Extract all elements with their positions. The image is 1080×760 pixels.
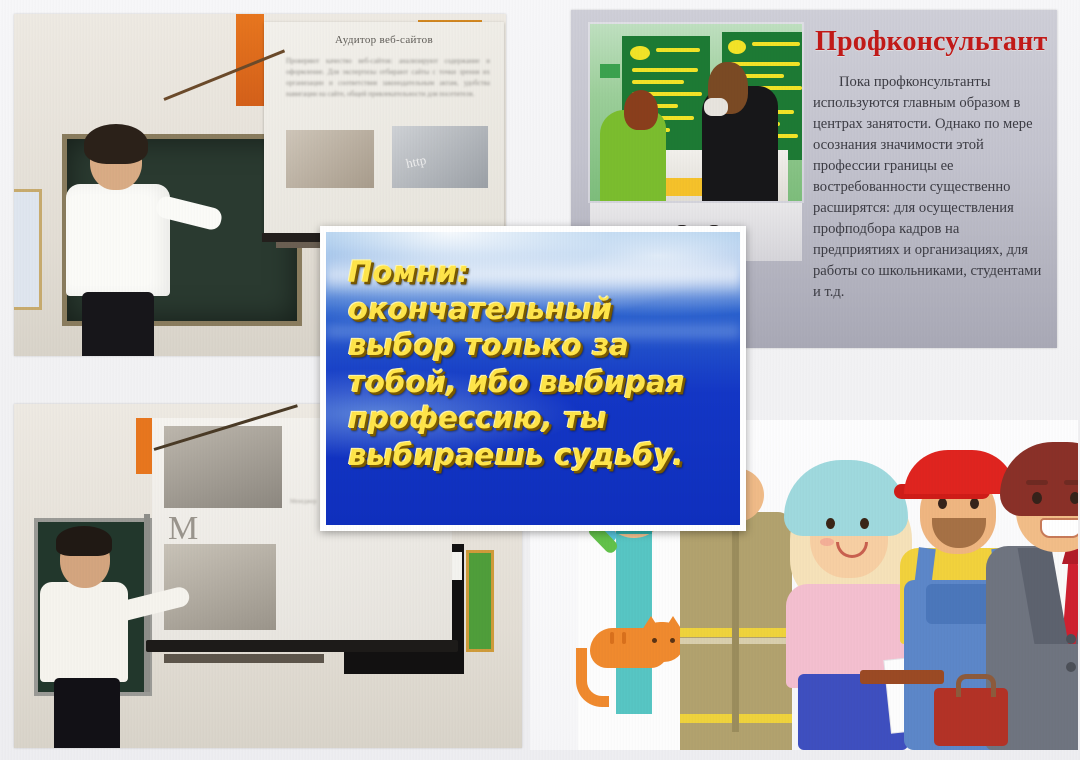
white-polo-shirt [40, 582, 128, 682]
eye-left [826, 518, 835, 529]
briefcase-icon [934, 688, 1008, 746]
quote-line-2: окончательный [348, 291, 726, 328]
quote-line-6: выбираешь судьбу. [348, 437, 726, 474]
slide-canvas: Аудитор веб-сайтов Проверяют качество ве… [0, 0, 1080, 760]
cat-icon [574, 610, 694, 696]
quote-line-3: выбор только за [348, 327, 726, 364]
slide-image-http: http [392, 126, 488, 188]
jacket-button-lower [1066, 662, 1076, 672]
cheek-blush [820, 538, 834, 546]
eye-right [860, 518, 869, 529]
suit-zipper [732, 522, 739, 732]
slide-letter-m: M [168, 510, 198, 548]
projected-slide-body: Проверяют качество веб-сайтов: анализиру… [286, 56, 490, 99]
eye-left [1032, 492, 1042, 504]
slide-image-keyboard [286, 130, 374, 188]
screen-frame-bottom [146, 640, 458, 652]
projected-slide-title: Аудитор веб-сайтов [264, 34, 504, 46]
medical-cap-icon [784, 460, 908, 536]
hair [56, 526, 112, 556]
sky-background: Помни: окончательный выбор только за тоб… [326, 232, 740, 525]
green-wall-poster [466, 550, 494, 652]
tool-belt [860, 670, 944, 684]
motivational-quote-slide: Помни: окончательный выбор только за тоб… [320, 226, 746, 531]
white-shirt [66, 184, 170, 296]
woman-black-jacket [702, 86, 778, 201]
employment-center-photo [590, 24, 802, 201]
panel-body-text: Пока профконсультанты используются главн… [813, 72, 1049, 303]
eyebrow-right [1064, 480, 1078, 485]
dark-trousers [82, 292, 154, 356]
panel-title: Профконсультант [815, 26, 1047, 58]
quote-line-5: профессию, ты [348, 400, 726, 437]
eye-right [970, 498, 979, 509]
hair [84, 124, 148, 164]
wall-picture-frame [14, 189, 42, 310]
screen-ledge [164, 654, 324, 663]
wall-sticker [600, 64, 620, 78]
presenter-figure [60, 132, 190, 356]
smiling-mouth [1040, 518, 1078, 538]
orange-wall-poster [136, 418, 152, 474]
eyebrow-left [1026, 480, 1048, 485]
jacket-button-upper [1066, 634, 1076, 644]
quote-text: Помни: окончательный выбор только за тоб… [348, 254, 726, 473]
projection-screen: Аудитор веб-сайтов Проверяют качество ве… [264, 22, 504, 234]
eye-left [938, 498, 947, 509]
dark-trousers [54, 678, 120, 748]
quote-line-4: тобой, ибо выбирая [348, 364, 726, 401]
hair [1000, 442, 1078, 516]
presenter-figure [36, 532, 156, 748]
quote-line-1: Помни: [348, 254, 726, 291]
woman-green-jacket [600, 110, 666, 201]
eye-right [1070, 492, 1078, 504]
